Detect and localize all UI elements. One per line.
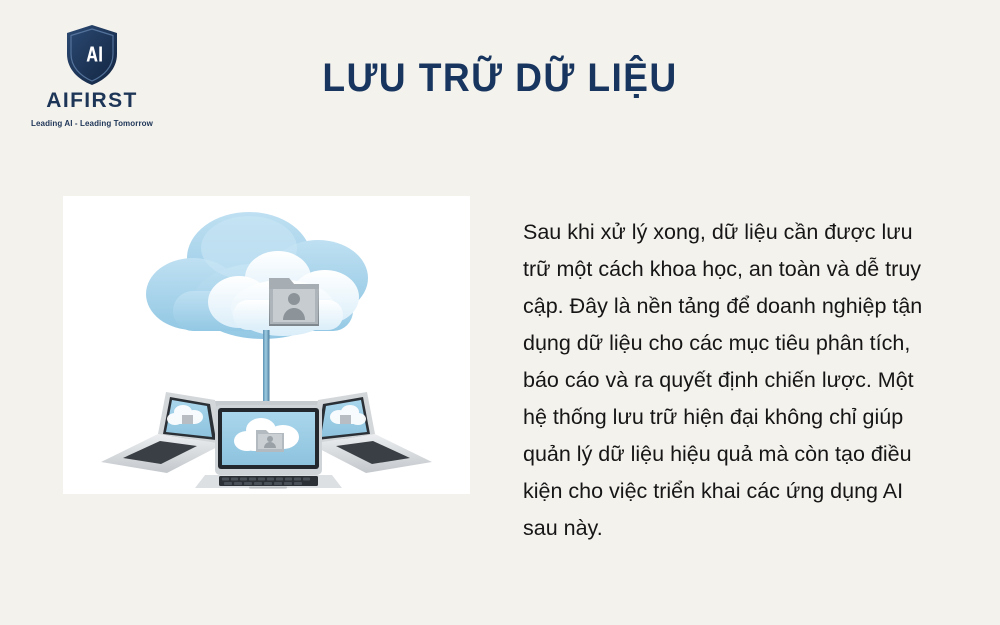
- body-paragraph: Sau khi xử lý xong, dữ liệu cần được lưu…: [523, 214, 939, 547]
- connector-bar: [263, 330, 270, 412]
- page-title: LƯU TRỮ DỮ LIỆU: [35, 56, 965, 101]
- folder-user-icon: [269, 278, 319, 326]
- screen-folder-icon: [256, 430, 284, 452]
- cloud-storage-illustration: [63, 196, 470, 494]
- brand-tagline: Leading AI - Leading Tomorrow: [22, 120, 162, 128]
- laptop-center: [195, 405, 342, 489]
